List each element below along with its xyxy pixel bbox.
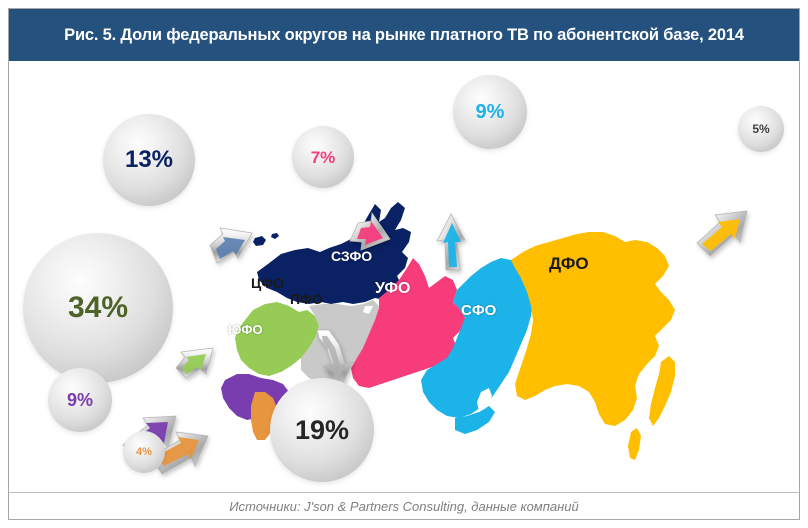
- bubble-skfo-label: 4%: [136, 447, 152, 458]
- region-szfo-exclave: [253, 236, 266, 246]
- bubble-pfo-19[interactable]: 19%: [270, 378, 374, 482]
- bubble-ufo-label: 7%: [311, 149, 336, 166]
- infographic-root: Рис. 5. Доли федеральных округов на рынк…: [0, 0, 808, 528]
- map-area: СЗФО ЦФО ПФО УФО СФО ЮФО ДФО 13% 34% 7% …: [9, 62, 799, 492]
- bubble-skfo-4[interactable]: 4%: [123, 431, 165, 473]
- arrow-cfo: [176, 348, 213, 378]
- source-note: Источники: J'son & Partners Consulting, …: [9, 493, 799, 520]
- arrow-szfo: [210, 228, 252, 263]
- region-szfo: [257, 202, 411, 304]
- bubble-cfo-label: 34%: [68, 293, 128, 323]
- bubble-szfo-13[interactable]: 13%: [103, 114, 195, 206]
- bubble-yufo-label: 9%: [67, 391, 93, 409]
- arrow-dfo: [697, 211, 747, 256]
- region-szfo-speck2: [271, 233, 279, 239]
- bubble-sfo-label: 9%: [476, 102, 505, 122]
- region-dfo-sakhalin: [628, 428, 641, 460]
- bubble-pfo-label: 19%: [295, 417, 349, 444]
- bubble-szfo-label: 13%: [125, 148, 173, 172]
- region-dfo-kamchatka: [649, 356, 675, 426]
- bubble-dfo-label: 5%: [752, 123, 769, 135]
- bubble-sfo-9[interactable]: 9%: [453, 75, 527, 149]
- bubble-dfo-5[interactable]: 5%: [738, 106, 784, 152]
- bubble-cfo-34[interactable]: 34%: [23, 233, 173, 383]
- arrow-sfo: [437, 214, 465, 270]
- bubble-ufo-7[interactable]: 7%: [292, 126, 354, 188]
- region-dfo: [511, 232, 675, 426]
- bubble-yufo-9[interactable]: 9%: [48, 368, 112, 432]
- page-title: Рис. 5. Доли федеральных округов на рынк…: [9, 9, 799, 61]
